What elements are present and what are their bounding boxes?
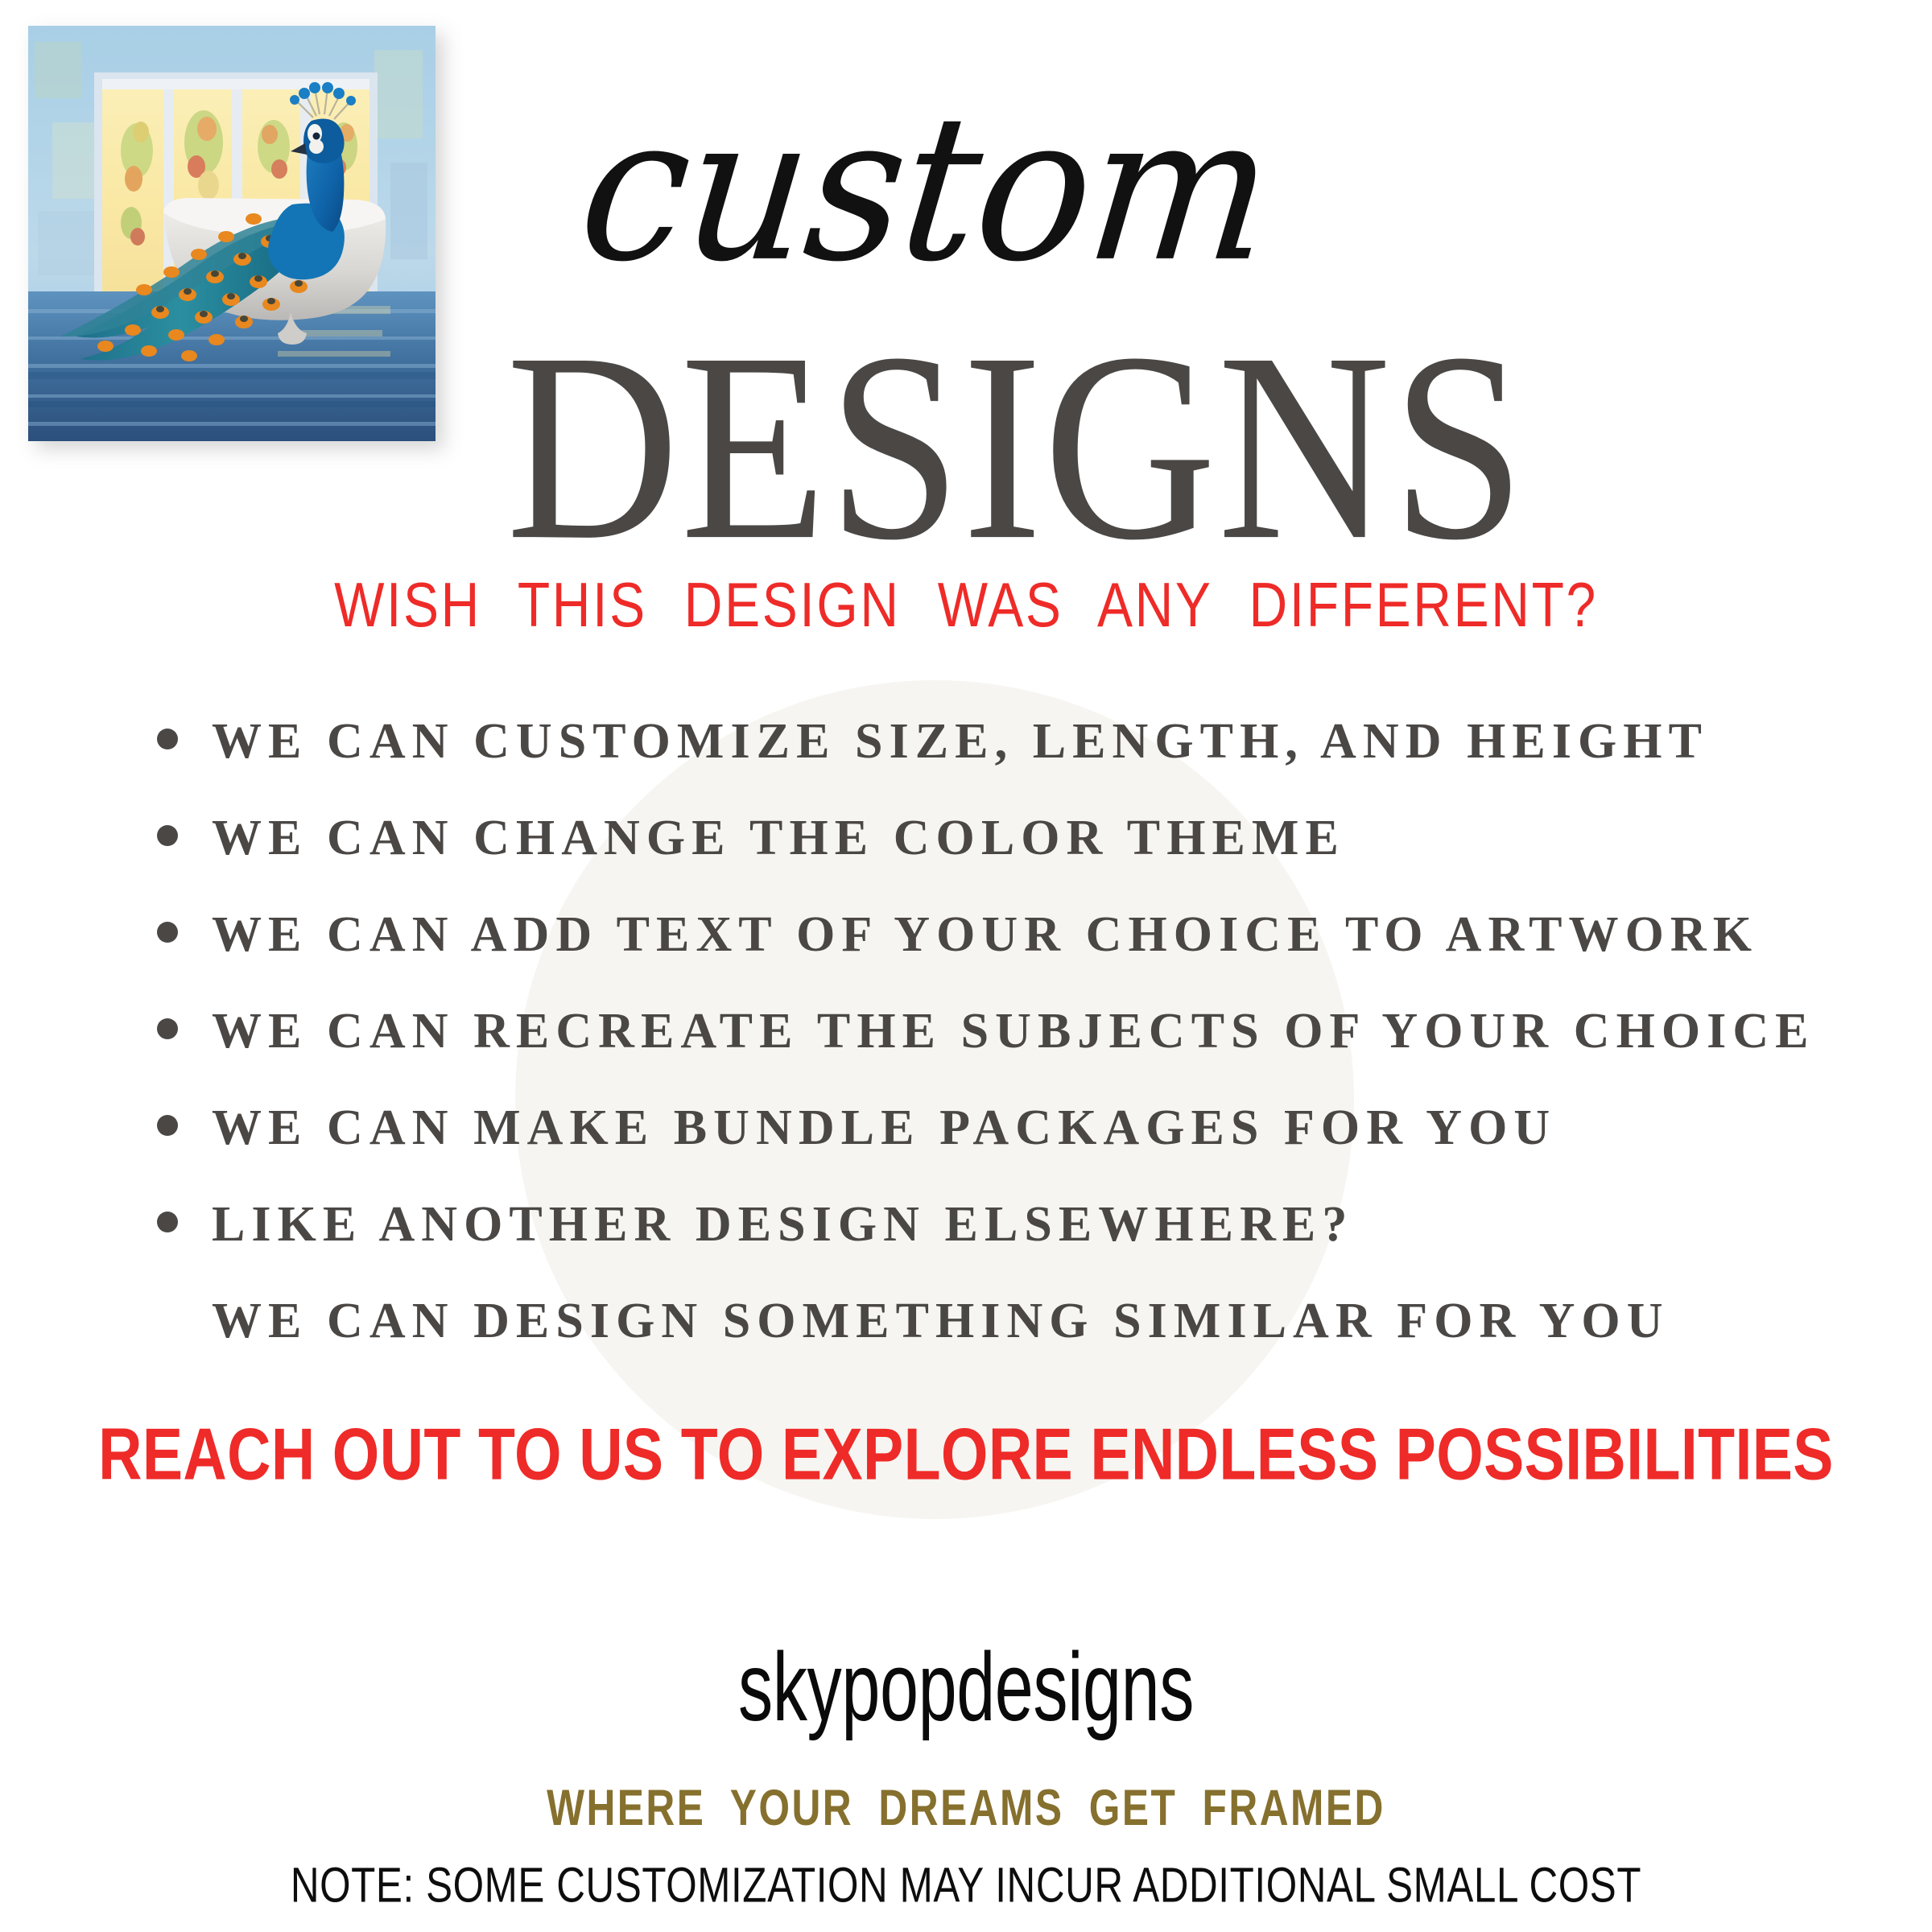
list-item: LIKE ANOTHER DESIGN ELSEWHERE? [157,1185,1864,1282]
brand-wordmark: skypopdesigns [193,1638,1739,1736]
bullet-dot-icon [157,922,178,943]
subhead-question: WISH THIS DESIGN WAS ANY DIFFERENT? [0,573,1932,636]
call-to-action-text: REACH OUT TO US TO EXPLORE ENDLESS POSSI… [10,1418,1922,1492]
bullet-dot-icon [157,729,178,749]
footnote-disclaimer: NOTE: SOME CUSTOMIZATION MAY INCUR ADDIT… [48,1861,1884,1910]
list-item-label: LIKE ANOTHER DESIGN ELSEWHERE? [212,1185,1353,1249]
bullet-dot-icon [157,1018,178,1039]
list-item-label: WE CAN MAKE BUNDLE PACKAGES FOR YOU [212,1088,1556,1153]
list-item: WE CAN MAKE BUNDLE PACKAGES FOR YOU [157,1088,1864,1185]
list-item: WE CAN CUSTOMIZE SIZE, LENGTH, AND HEIGH… [157,702,1864,799]
feature-list: WE CAN CUSTOMIZE SIZE, LENGTH, AND HEIGH… [157,702,1864,1378]
promo-poster: custom DESIGNS WISH THIS DESIGN WAS ANY … [0,0,1932,1932]
brand-tagline: WHERE YOUR DREAMS GET FRAMED [77,1783,1855,1834]
list-item-label: WE CAN DESIGN SOMETHING SIMILAR FOR YOU [212,1282,1670,1346]
list-item-label: WE CAN CUSTOMIZE SIZE, LENGTH, AND HEIGH… [212,702,1708,766]
page-title-designs: DESIGNS [0,318,1932,558]
script-title-text: custom [572,89,1279,290]
script-title-custom: custom [451,80,1401,298]
list-item: WE CAN ADD TEXT OF YOUR CHOICE TO ARTWOR… [157,895,1864,992]
list-item: WE CAN CHANGE THE COLOR THEME [157,799,1864,895]
list-item-label: WE CAN RECREATE THE SUBJECTS OF YOUR CHO… [212,992,1815,1056]
list-item-label: WE CAN CHANGE THE COLOR THEME [212,799,1345,863]
list-item-continuation: WE CAN DESIGN SOMETHING SIMILAR FOR YOU [157,1282,1864,1378]
list-item: WE CAN RECREATE THE SUBJECTS OF YOUR CHO… [157,992,1864,1088]
list-item-label: WE CAN ADD TEXT OF YOUR CHOICE TO ARTWOR… [212,895,1758,960]
page-title-text: DESIGNS [406,318,1526,576]
bullet-dot-icon [157,1115,178,1136]
bullet-dot-icon [157,1212,178,1232]
bullet-dot-icon [157,825,178,846]
